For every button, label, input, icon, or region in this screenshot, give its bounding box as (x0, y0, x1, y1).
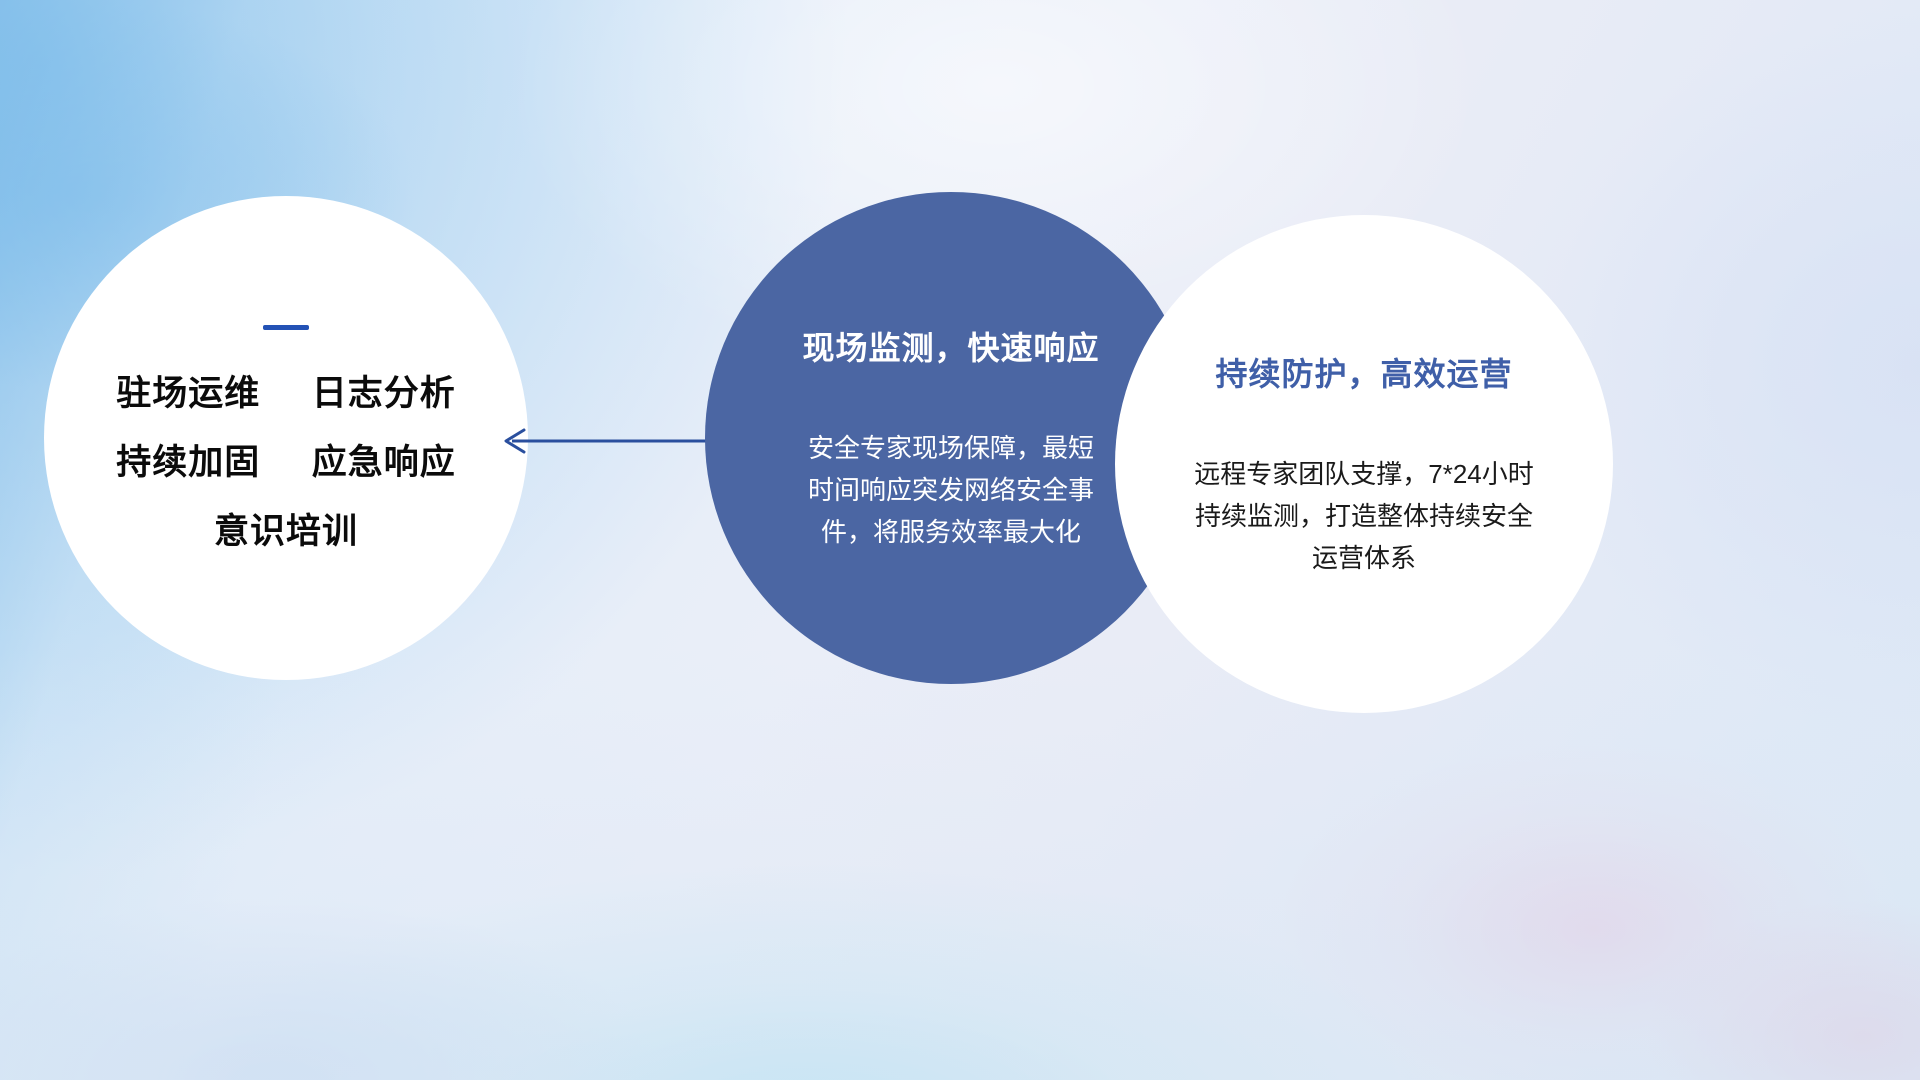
capability-line-3: 意识培训 (214, 514, 358, 551)
capability-item-awareness-training: 意识培训 (214, 512, 358, 551)
slide-canvas: 驻场运维 日志分析 持续加固 应急响应 意识培训 现场监测，快速响应 安全专家现… (0, 0, 1920, 1080)
right-circle-title: 持续防护，高效运营 (1215, 349, 1512, 395)
middle-circle-body: 安全专家现场保障，最短时间响应突发网络安全事件，将服务效率最大化 (796, 427, 1106, 553)
right-circle-body: 远程专家团队支撑，7*24小时持续监测，打造整体持续安全运营体系 (1192, 453, 1537, 579)
right-circle-continuous-protection[interactable]: 持续防护，高效运营 远程专家团队支撑，7*24小时持续监测，打造整体持续安全运营… (1115, 215, 1613, 713)
capability-item-log-analysis: 日志分析 (312, 374, 456, 413)
capability-item-emergency: 应急响应 (312, 443, 456, 482)
capability-item-onsite-ops: 驻场运维 (116, 374, 260, 413)
capability-line-2: 持续加固 应急响应 (116, 445, 456, 482)
left-circle-divider (263, 325, 309, 330)
middle-circle-title: 现场监测，快速响应 (802, 323, 1099, 369)
capability-line-1: 驻场运维 日志分析 (116, 376, 456, 413)
left-circle-capabilities[interactable]: 驻场运维 日志分析 持续加固 应急响应 意识培训 (44, 196, 528, 680)
capability-item-hardening: 持续加固 (116, 443, 260, 482)
